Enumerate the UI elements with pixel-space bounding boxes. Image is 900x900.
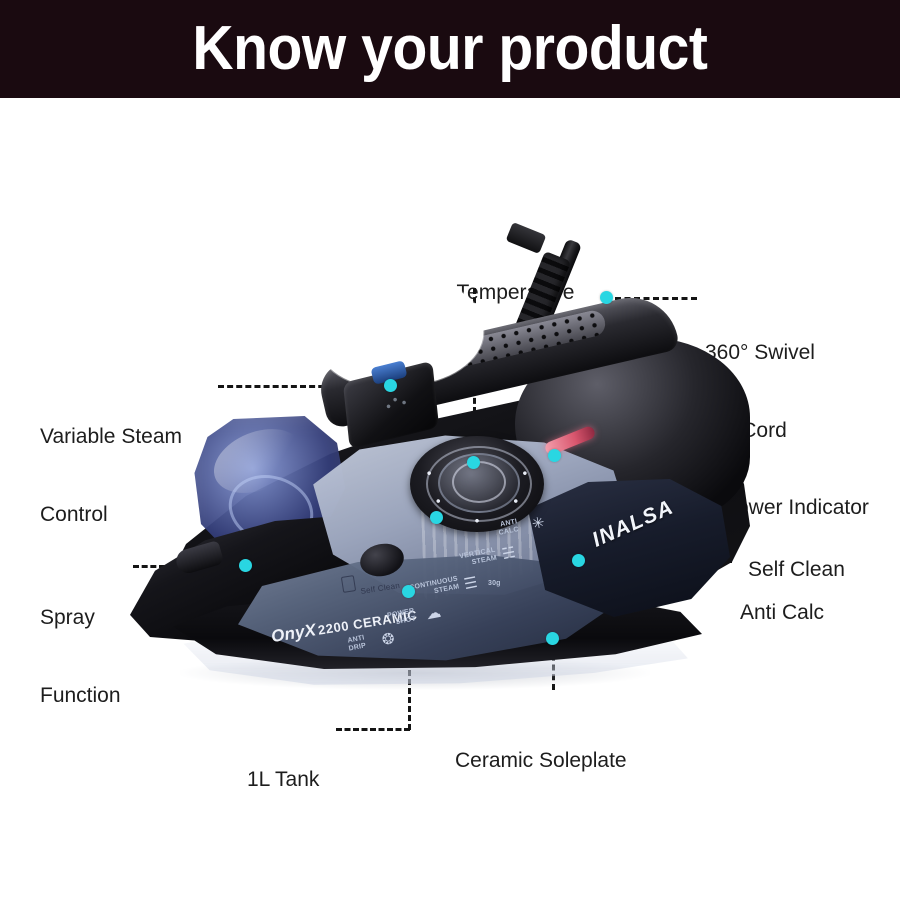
marker-ceramic-soleplate (546, 632, 559, 645)
marker-variable-temperature-control (467, 456, 480, 469)
continuous-steam-icon: ☰ (463, 575, 479, 592)
marker-spray-function (239, 559, 252, 572)
callout-tank-capacity: 1L Tank (247, 715, 367, 845)
page-title: Know your product (192, 18, 707, 80)
callout-anti-calc: Anti Calc (740, 548, 890, 678)
self-clean-icon (341, 575, 356, 593)
power-shot-icon: ☁ (425, 605, 443, 623)
marker-tank-capacity (402, 585, 415, 598)
vertical-steam-icon: ☵ (501, 545, 517, 562)
marker-swivel-cord (600, 291, 613, 304)
product-infographic: Know your product (0, 0, 900, 900)
marker-power-indicator (548, 449, 561, 462)
anti-calc-icon: ✳ (531, 515, 546, 532)
marker-self-clean (430, 511, 443, 524)
leader-tank-capacity-horizontal (336, 728, 410, 731)
callout-line-1: 360° Swivel (705, 340, 895, 366)
product-image-steam-iron: Self Clean ANTI CALC ✳ VERTICAL STEAM ☵ … (120, 220, 780, 690)
callout-line-1: Ceramic Soleplate (455, 748, 705, 774)
continuous-steam-value: 30g (488, 580, 501, 588)
header-banner: Know your product (0, 0, 900, 98)
callout-ceramic-soleplate: Ceramic Soleplate (455, 696, 705, 826)
callout-line-1: Anti Calc (740, 600, 890, 626)
anti-drip-icon: ❂ (381, 631, 396, 648)
marker-anti-calc (572, 554, 585, 567)
callout-line-1: 1L Tank (247, 767, 367, 793)
feature-label-anti-drip: ANTI DRIP (347, 634, 367, 653)
marker-variable-steam-control (384, 379, 397, 392)
